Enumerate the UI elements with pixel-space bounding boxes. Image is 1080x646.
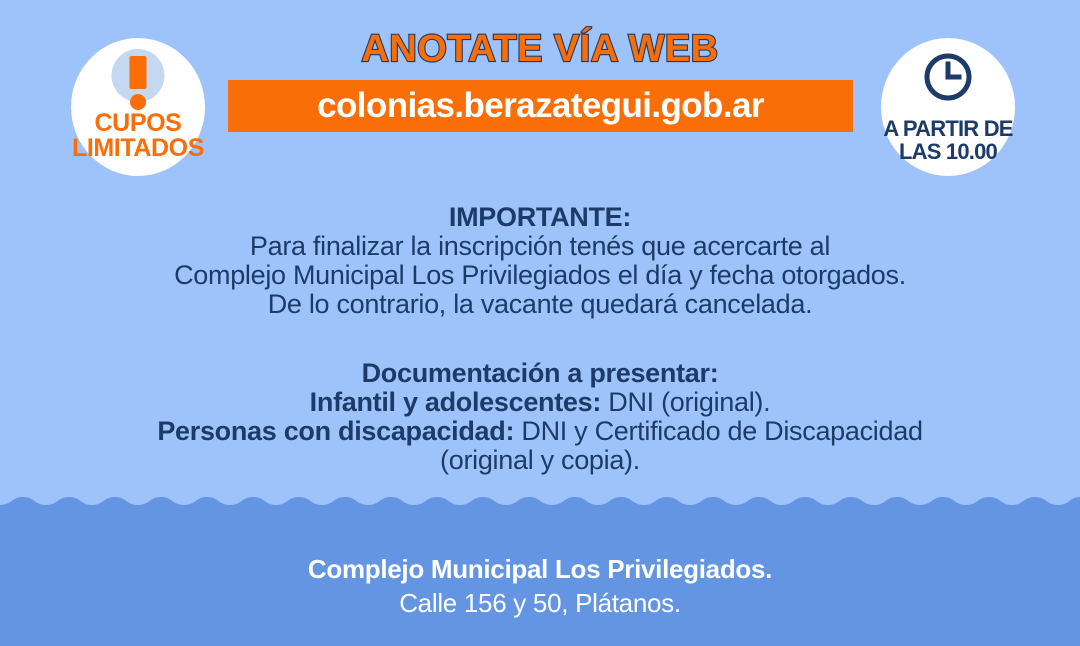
documentation-row-1: Infantil y adolescentes: DNI (original). (0, 388, 1080, 417)
footer-venue: Complejo Municipal Los Privilegiados. (0, 552, 1080, 586)
exclamation-dot (130, 94, 146, 110)
website-url-bar[interactable]: colonias.berazategui.gob.ar (228, 80, 853, 132)
footer-address: Calle 156 y 50, Plátanos. (0, 586, 1080, 620)
badge-cupos-label: CUPOS LIMITADOS (72, 111, 204, 161)
documentation-block: Documentación a presentar: Infantil y ad… (0, 359, 1080, 475)
important-line-1: Para finalizar la inscripción tenés que … (0, 232, 1080, 261)
badge-horario-label: A PARTIR DE LAS 10.00 (883, 117, 1012, 163)
badge-horario-line2: LAS 10.00 (883, 140, 1012, 163)
documentation-row-2: Personas con discapacidad: DNI y Certifi… (0, 417, 1080, 446)
website-url-text: colonias.berazategui.gob.ar (317, 86, 764, 126)
important-title: IMPORTANTE: (0, 203, 1080, 232)
documentation-row-1-label: Infantil y adolescentes: (310, 387, 601, 417)
documentation-title: Documentación a presentar: (0, 359, 1080, 388)
important-line-3: De lo contrario, la vacante quedará canc… (0, 290, 1080, 319)
badge-horario-line1: A PARTIR DE (883, 116, 1012, 141)
documentation-row-1-value: DNI (original). (601, 387, 770, 417)
documentation-row-3: (original y copia). (0, 446, 1080, 475)
badge-cupos-line1: CUPOS (95, 109, 182, 137)
documentation-row-2-value: DNI y Certificado de Discapacidad (514, 416, 923, 446)
documentation-row-2-label: Personas con discapacidad: (157, 416, 514, 446)
footer-block: Complejo Municipal Los Privilegiados. Ca… (0, 552, 1080, 620)
important-block: IMPORTANTE: Para finalizar la inscripció… (0, 203, 1080, 319)
poster-canvas: CUPOS LIMITADOS A PARTIR DE LAS 10.00 AN… (0, 0, 1080, 646)
badge-cupos-line2: LIMITADOS (72, 136, 204, 161)
important-line-2: Complejo Municipal Los Privilegiados el … (0, 261, 1080, 290)
headline: ANOTATE VÍA WEB (0, 28, 1080, 71)
